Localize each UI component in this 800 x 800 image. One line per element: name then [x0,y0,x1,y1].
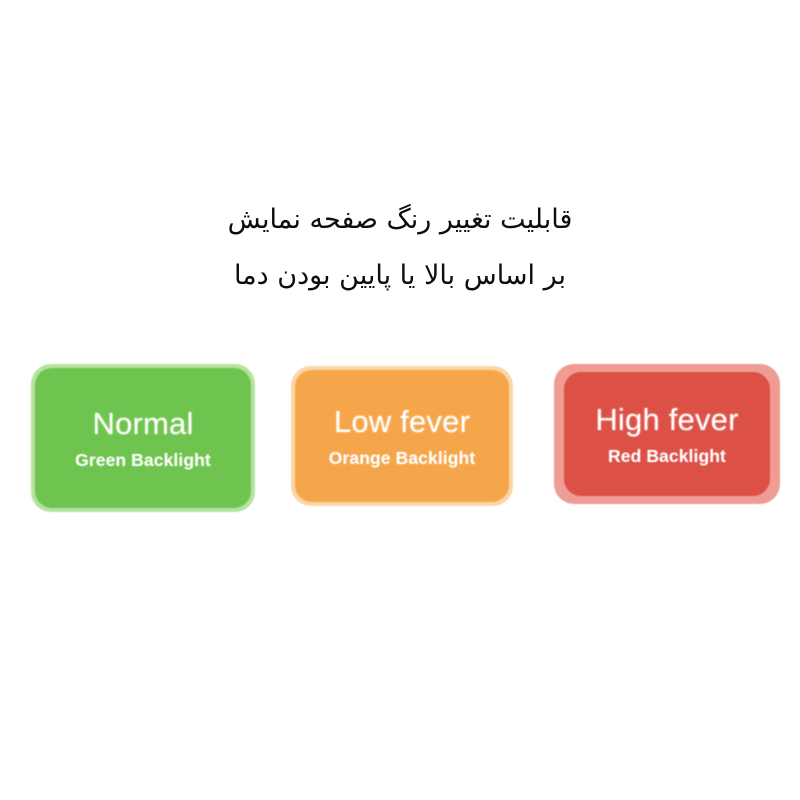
badge-low-fever: Low fever Orange Backlight [295,370,509,502]
badge-normal: Normal Green Backlight [35,368,251,508]
badge-high-fever: High fever Red Backlight [564,372,770,496]
badge-low-fever-subtitle: Orange Backlight [329,448,476,468]
badge-normal-title: Normal [92,407,193,441]
badge-high-fever-subtitle: Red Backlight [608,446,726,466]
badge-low-fever-title: Low fever [334,405,470,439]
badge-normal-subtitle: Green Backlight [75,450,211,470]
product-feature-slide: قابلیت تغییر رنگ صفحه نمایش بر اساس بالا… [0,0,800,800]
badge-high-fever-title: High fever [595,403,738,437]
backlight-mode-row: Normal Green Backlight Low fever Orange … [0,0,800,800]
